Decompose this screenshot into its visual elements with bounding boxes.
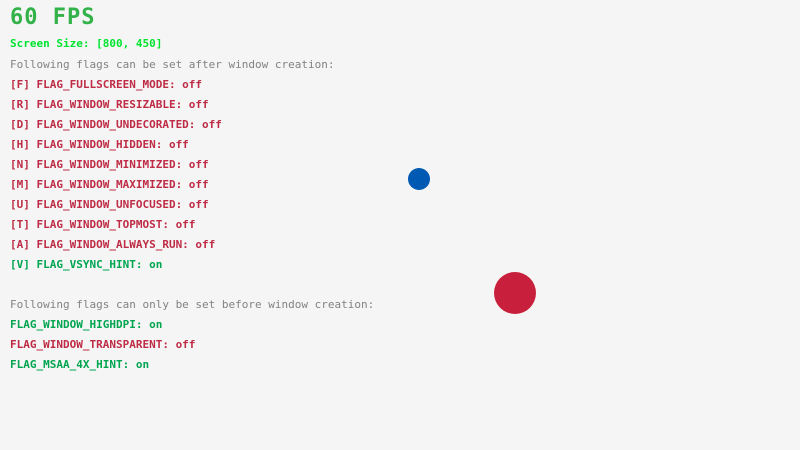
flag-row-flag-window-minimized[interactable]: [N] FLAG_WINDOW_MINIMIZED: off [10, 158, 209, 171]
flag-row-flag-msaa-4x-hint[interactable]: FLAG_MSAA_4X_HINT: on [10, 358, 149, 371]
flag-row-flag-window-always-run[interactable]: [A] FLAG_WINDOW_ALWAYS_RUN: off [10, 238, 215, 251]
red-ball-shape [494, 272, 536, 314]
flag-row-flag-window-transparent[interactable]: FLAG_WINDOW_TRANSPARENT: off [10, 338, 195, 351]
flag-row-flag-window-undecorated[interactable]: [D] FLAG_WINDOW_UNDECORATED: off [10, 118, 222, 131]
flag-row-flag-window-maximized[interactable]: [M] FLAG_WINDOW_MAXIMIZED: off [10, 178, 209, 191]
section-header-before-creation: Following flags can only be set before w… [10, 298, 374, 311]
screen-size-label: Screen Size: [800, 450] [10, 37, 162, 50]
flag-row-flag-vsync-hint[interactable]: [V] FLAG_VSYNC_HINT: on [10, 258, 162, 271]
blue-ball-shape [408, 168, 430, 190]
flag-row-flag-window-topmost[interactable]: [T] FLAG_WINDOW_TOPMOST: off [10, 218, 195, 231]
flag-row-flag-fullscreen-mode[interactable]: [F] FLAG_FULLSCREEN_MODE: off [10, 78, 202, 91]
flag-row-flag-window-unfocused[interactable]: [U] FLAG_WINDOW_UNFOCUSED: off [10, 198, 209, 211]
app-window: 60 FPS Screen Size: [800, 450] Following… [0, 0, 800, 450]
flag-row-flag-window-highdpi[interactable]: FLAG_WINDOW_HIGHDPI: on [10, 318, 162, 331]
flag-row-flag-window-resizable[interactable]: [R] FLAG_WINDOW_RESIZABLE: off [10, 98, 209, 111]
flag-row-flag-window-hidden[interactable]: [H] FLAG_WINDOW_HIDDEN: off [10, 138, 189, 151]
section-header-after-creation: Following flags can be set after window … [10, 58, 335, 71]
fps-counter: 60 FPS [10, 6, 95, 30]
